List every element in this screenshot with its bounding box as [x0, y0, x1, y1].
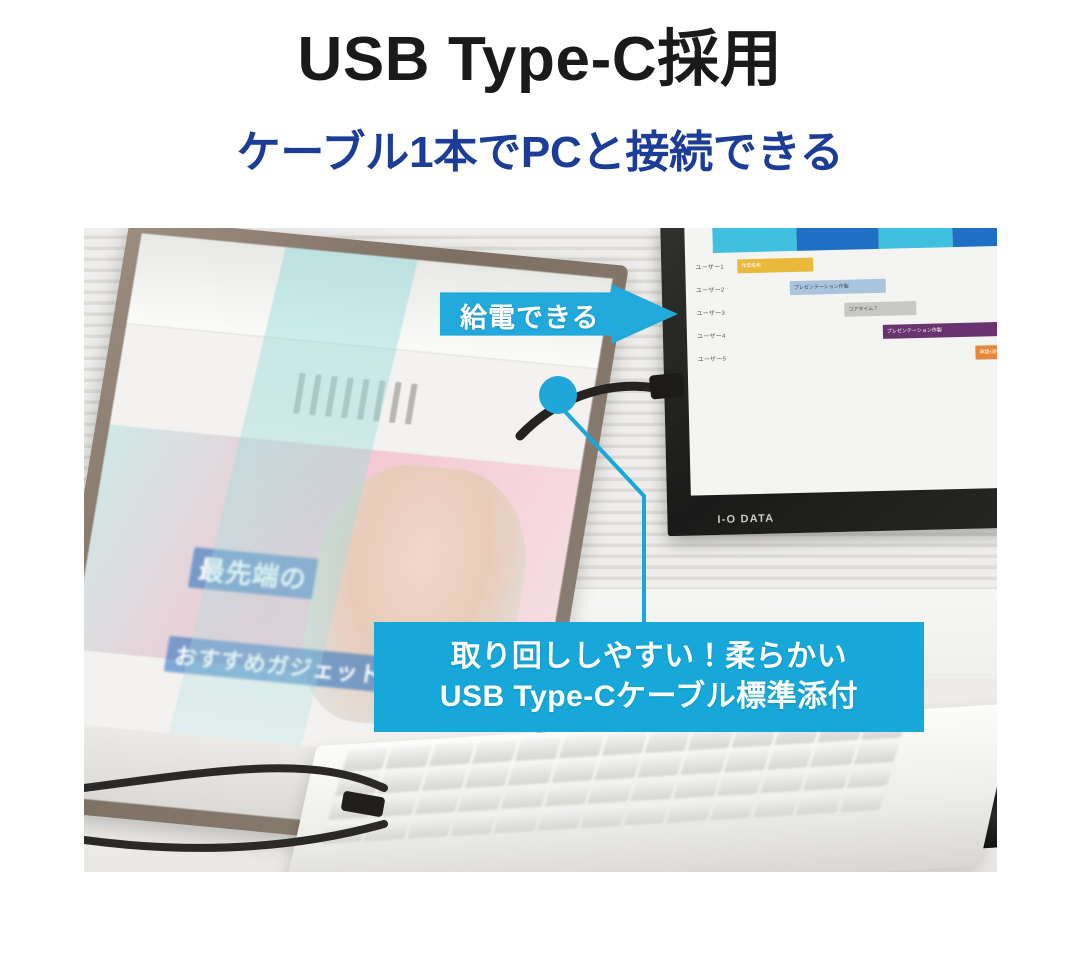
cable-highlight-marker: [539, 376, 577, 414]
gantt-bar: 作業名称: [737, 258, 813, 274]
page-subtitle: ケーブル1本でPCと接続できる: [0, 128, 1080, 179]
gantt-header-bands: [712, 228, 997, 253]
product-photo: ユーザー1 作業名称 ユーザー2 プレゼンテーション作製 ユーザー3 コアタイム…: [84, 228, 997, 872]
gantt-bar: プレゼンテーション作製: [790, 279, 886, 295]
monitor-screen: ユーザー1 作業名称 ユーザー2 プレゼンテーション作製 ユーザー3 コアタイム…: [684, 228, 997, 496]
gantt-row-label: ユーザー3: [696, 308, 725, 318]
gantt-bar: コアタイム？: [844, 301, 916, 317]
power-delivery-label: 給電できる: [460, 296, 599, 335]
gantt-rows: ユーザー1 作業名称 ユーザー2 プレゼンテーション作製 ユーザー3 コアタイム…: [685, 250, 997, 373]
external-monitor: ユーザー1 作業名称 ユーザー2 プレゼンテーション作製 ユーザー3 コアタイム…: [660, 228, 997, 536]
gantt-row-label: ユーザー1: [695, 262, 724, 272]
gantt-bar: 承認・決裁: [975, 344, 997, 359]
gantt-row-label: ユーザー4: [697, 331, 726, 341]
gantt-row-label: ユーザー5: [697, 354, 726, 364]
page-title: USB Type-C採用: [0, 24, 1080, 95]
cable-feature-line-2: USB Type-Cケーブル標準添付: [440, 678, 858, 716]
cable-feature-callout: 取り回ししやすい！柔らかい USB Type-Cケーブル標準添付: [374, 622, 924, 732]
gantt-row-label: ユーザー2: [696, 285, 725, 295]
power-delivery-callout: 給電できる: [440, 284, 678, 344]
headline-area: USB Type-C採用 ケーブル1本でPCと接続できる: [0, 0, 1080, 216]
gantt-bar: プレゼンテーション作製: [883, 322, 997, 339]
cable-feature-line-1: 取り回ししやすい！柔らかい: [451, 638, 847, 676]
monitor-brand-logo: I-O DATA: [717, 513, 774, 526]
